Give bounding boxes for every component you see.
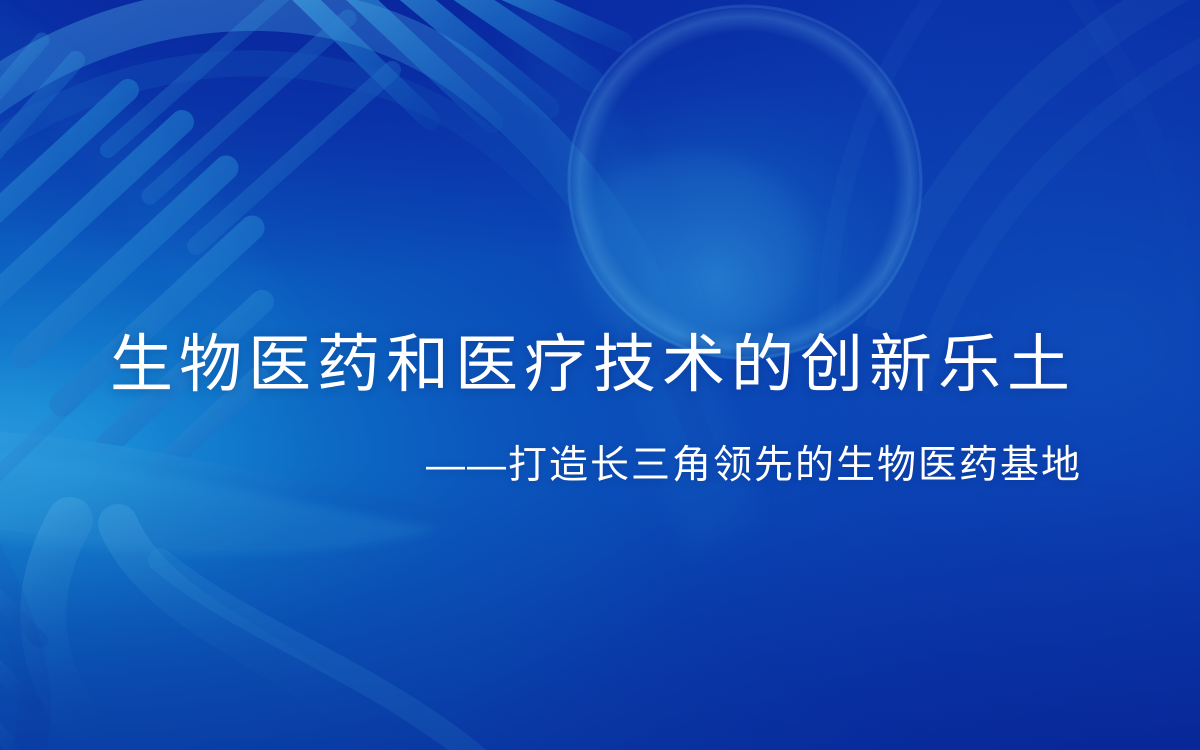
banner-subtitle: ——打造长三角领先的生物医药基地 (110, 440, 1082, 492)
headline-block: 生物医药和医疗技术的创新乐土 ——打造长三角领先的生物医药基地 (0, 0, 1200, 750)
banner-title: 生物医药和医疗技术的创新乐土 (110, 330, 1090, 400)
biomedical-hero-banner: 生物医药和医疗技术的创新乐土 ——打造长三角领先的生物医药基地 (0, 0, 1200, 750)
